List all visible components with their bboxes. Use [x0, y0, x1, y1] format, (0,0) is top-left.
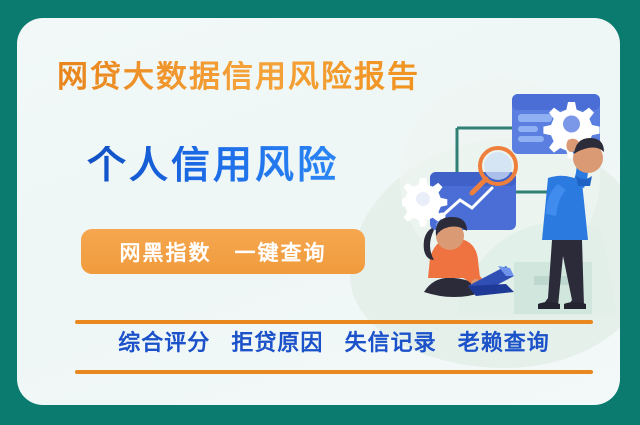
- keyword-list: 综合评分 拒贷原因 失信记录 老赖查询: [75, 332, 593, 354]
- page-title: 网贷大数据信用风险报告: [57, 61, 420, 92]
- banner-stage: 网贷大数据信用风险报告 个人信用风险 网黑指数 一键查询 综合评分 拒贷原因 失…: [0, 0, 640, 425]
- query-cta-label: 网黑指数 一键查询: [120, 237, 327, 267]
- gear-icon-small: [402, 178, 447, 227]
- divider-bottom: [75, 370, 593, 374]
- keyword-item[interactable]: 老赖查询: [458, 330, 550, 355]
- divider-top: [75, 320, 593, 324]
- credit-data-analysis-illustration: [402, 80, 620, 320]
- query-cta-button[interactable]: 网黑指数 一键查询: [81, 229, 365, 274]
- banner-card: 网贷大数据信用风险报告 个人信用风险 网黑指数 一键查询 综合评分 拒贷原因 失…: [17, 18, 620, 405]
- keyword-item[interactable]: 综合评分: [118, 330, 210, 355]
- page-subtitle: 个人信用风险: [87, 146, 339, 185]
- keyword-item[interactable]: 拒贷原因: [231, 330, 323, 355]
- keyword-item[interactable]: 失信记录: [345, 330, 437, 355]
